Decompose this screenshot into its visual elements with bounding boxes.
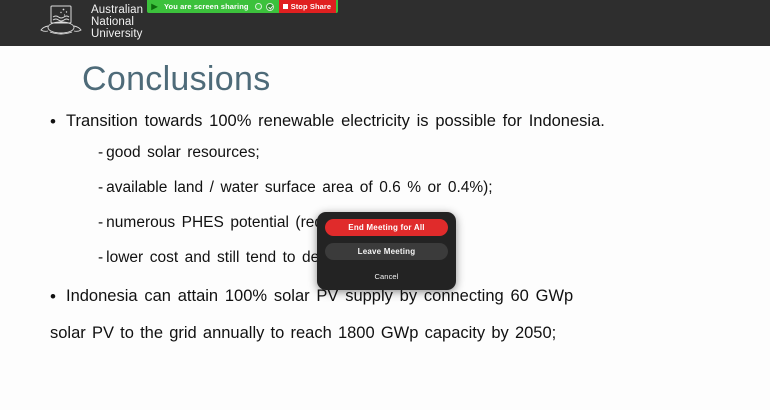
stop-share-button[interactable]: Stop Share [279,0,337,13]
sub-dash-marker: - [98,214,106,231]
share-toolbar-icons [255,3,279,11]
stop-share-label: Stop Share [291,2,332,11]
presentation-header-band: Australian National University [0,0,770,46]
screen-sharing-toolbar: ▶ You are screen sharing Stop Share [147,0,338,13]
leave-meeting-dialog: End Meeting for All Leave Meeting Cancel [317,212,456,290]
bullet-marker-icon: • [50,110,66,133]
screen-share-slide-view: Australian National University ▶ You are… [0,0,770,410]
anu-line-3: University [91,29,143,41]
sub-item-1-1: -good solar resources; [0,142,770,164]
end-meeting-for-all-button[interactable]: End Meeting for All [325,219,448,236]
stop-square-icon [283,4,288,9]
bullet-item-2: • Indonesia can attain 100% solar PV sup… [0,285,770,345]
security-shield-check-icon[interactable] [266,3,274,11]
sub-dash-marker: - [98,144,106,161]
slide-canvas: Conclusions • Transition towards 100% re… [0,46,770,410]
sub-dash-marker: - [98,249,106,266]
bullet-text-group-2: Indonesia can attain 100% solar PV suppl… [66,285,573,345]
bullet-text-2-continuation: solar PV to the grid annually to reach 1… [50,322,573,345]
sub-item-text-1-2: available land / water surface area of 0… [106,179,492,196]
slide-title: Conclusions [82,60,271,99]
cancel-button[interactable]: Cancel [325,271,448,282]
sub-item-1-2: -available land / water surface area of … [0,177,770,199]
bullet-item-1: • Transition towards 100% renewable elec… [0,110,770,133]
anu-wordmark: Australian National University [91,5,143,40]
zoom-logo-icon: ▶ [150,2,159,11]
sub-item-text-1-1: good solar resources; [106,144,259,161]
bullet-text-1: Transition towards 100% renewable electr… [66,110,605,133]
sub-dash-marker: - [98,179,106,196]
microphone-mute-circle-icon[interactable] [255,3,262,10]
anu-logo: Australian National University [38,4,143,42]
sharing-status-label: You are screen sharing [159,2,255,11]
leave-meeting-button[interactable]: Leave Meeting [325,243,448,260]
bullet-text-2: Indonesia can attain 100% solar PV suppl… [66,287,573,305]
bullet-marker-icon: • [50,285,66,308]
anu-crest-icon [38,4,84,42]
